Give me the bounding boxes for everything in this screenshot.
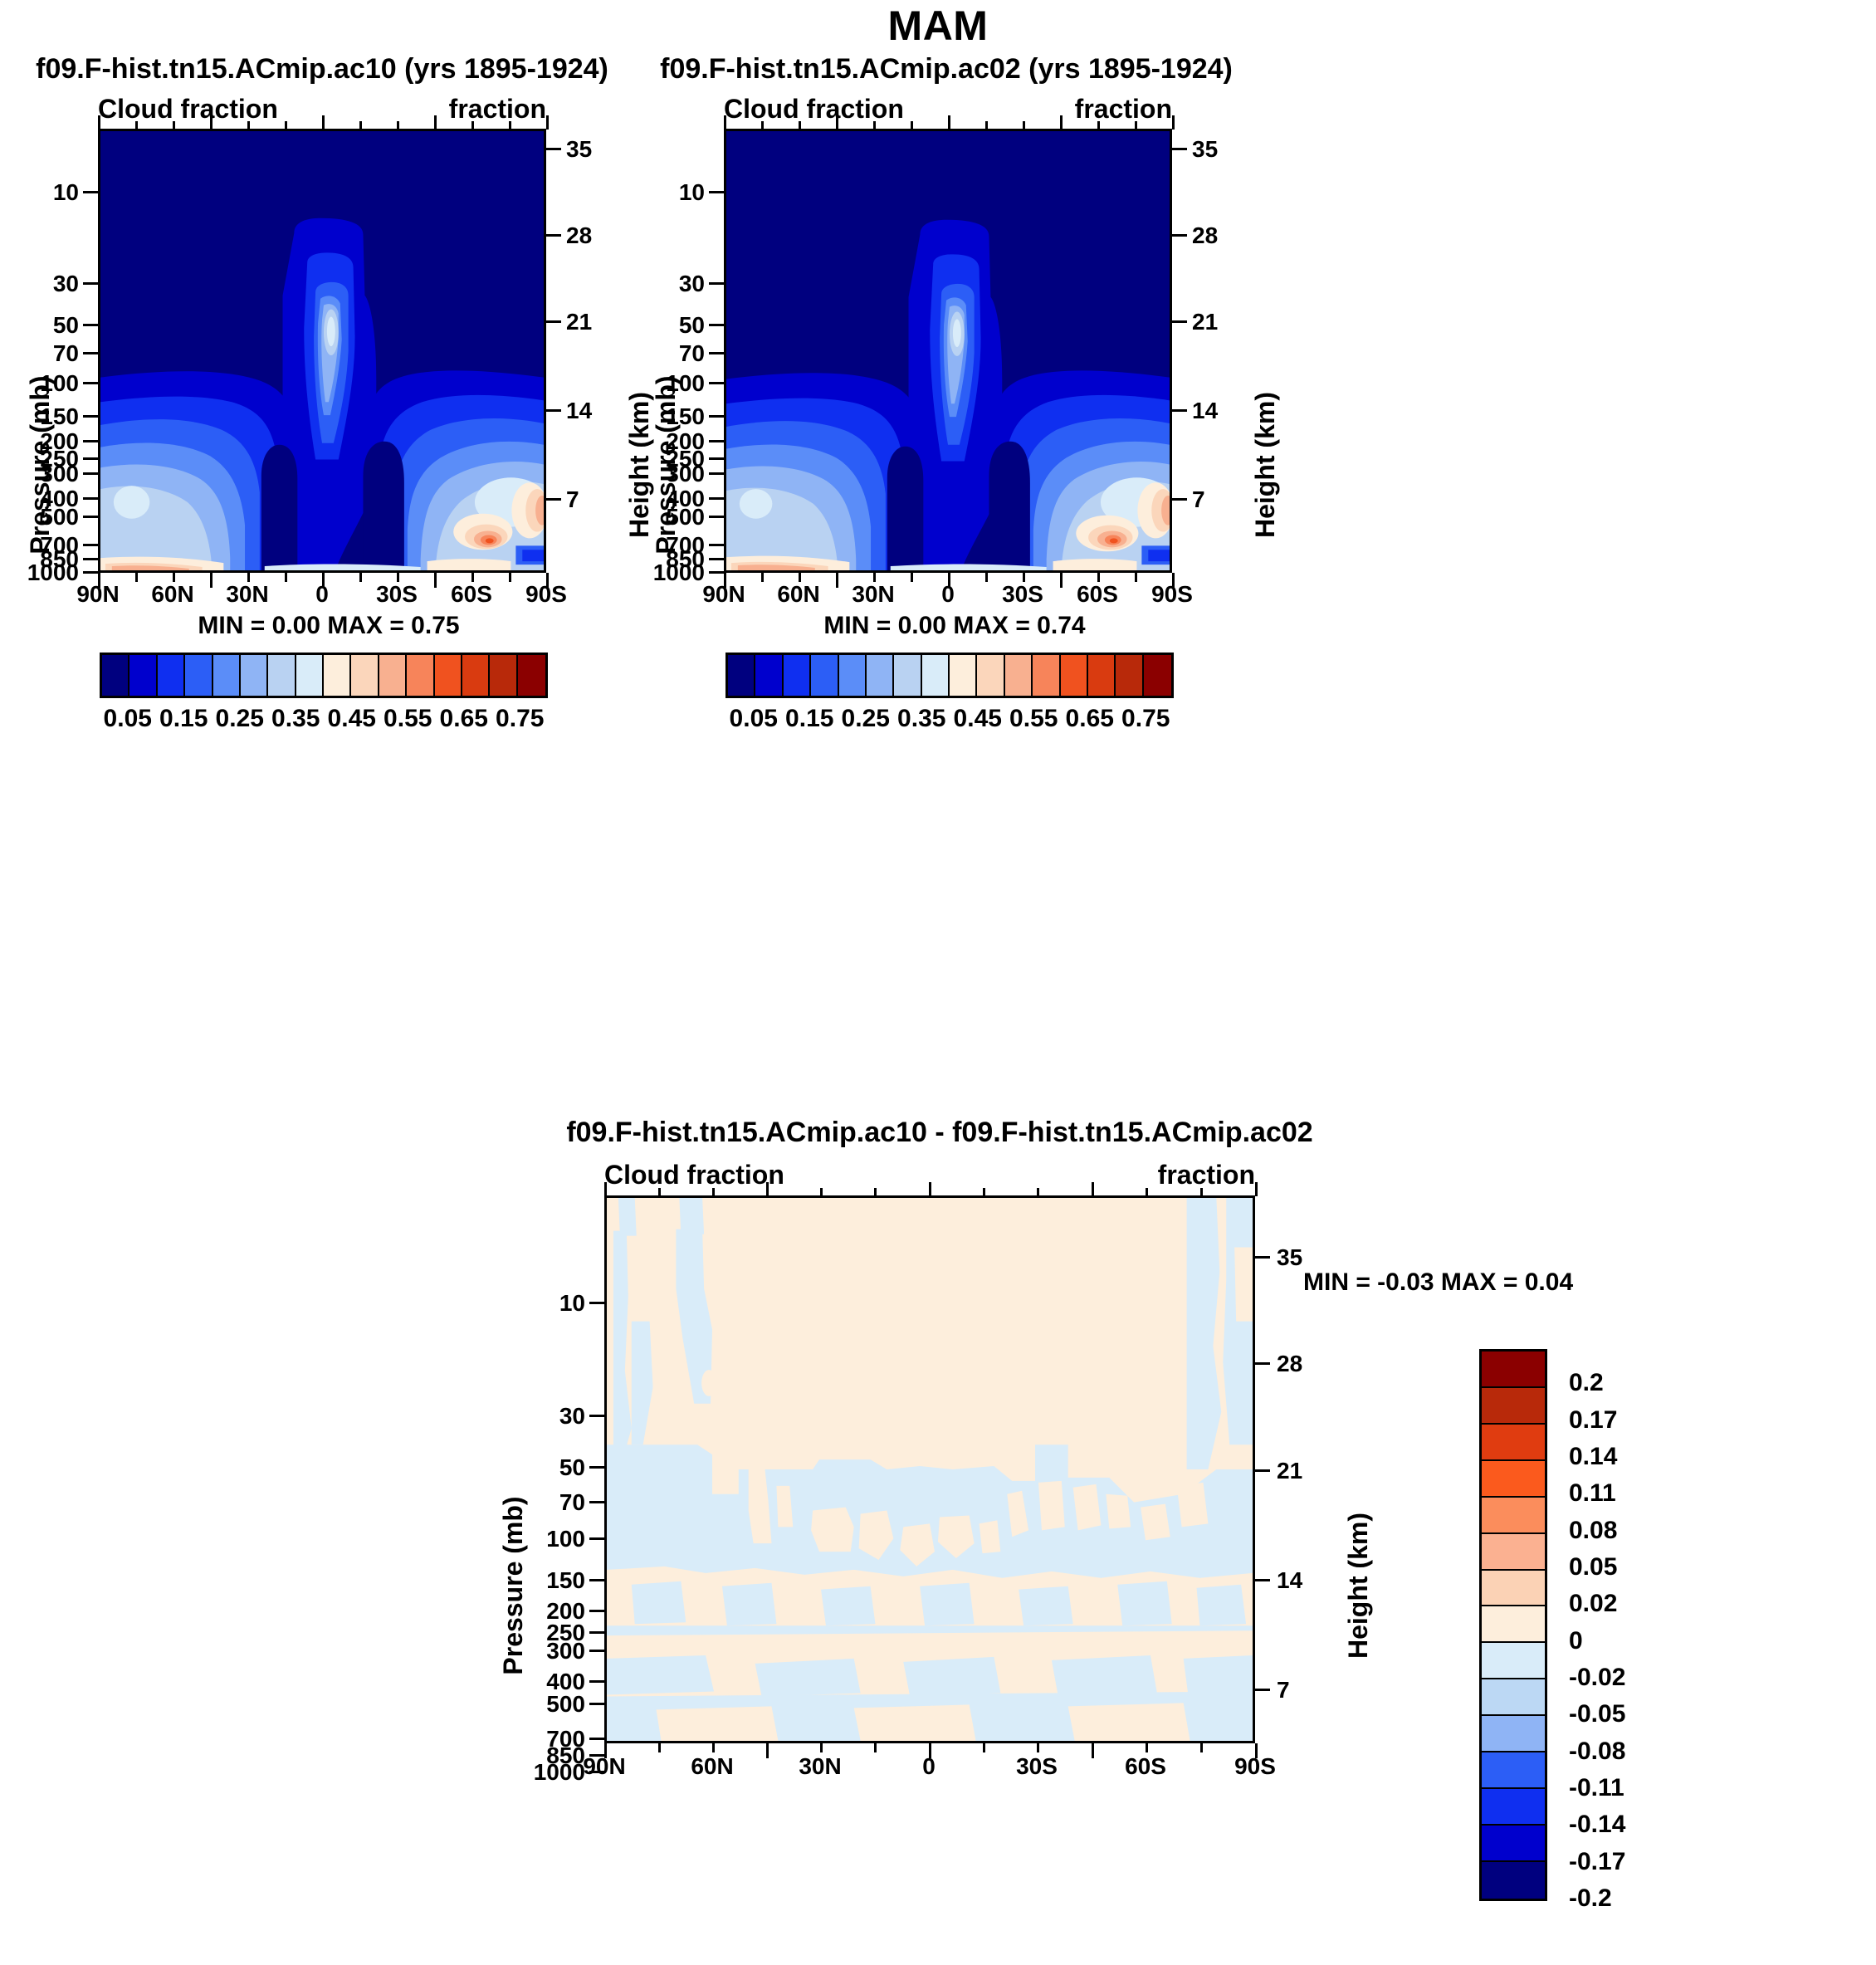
right-xtick-90N: 90N	[702, 581, 745, 608]
diff-contour-field	[607, 1198, 1253, 1741]
colorbar-tick-label: -0.02	[1569, 1664, 1625, 1692]
diff-ytick-100: 100	[546, 1526, 585, 1552]
left-ytick-1000: 1000	[27, 560, 79, 586]
left-panel-title: f09.F-hist.tn15.ACmip.ac10 (yrs 1895-192…	[36, 53, 608, 86]
right-xtick-30S: 30S	[1002, 581, 1043, 608]
colorbar-cell	[241, 655, 268, 696]
colorbar-cell	[129, 655, 157, 696]
left-ytick-30: 30	[53, 271, 79, 297]
colorbar-cell	[518, 655, 545, 696]
colorbar-tick-label: 0.25	[216, 705, 264, 733]
left-xtick-30N: 30N	[226, 581, 268, 608]
colorbar-tick-label: 0.65	[440, 705, 488, 733]
colorbar-tick-label: 0.35	[271, 705, 320, 733]
colorbar-cell	[1482, 1679, 1545, 1716]
left-ytick-50: 50	[53, 312, 79, 339]
colorbar-cell	[1482, 1461, 1545, 1498]
right-contour-field	[726, 131, 1170, 570]
left-y2tick-28: 28	[566, 222, 592, 249]
diff-minmax-text: MIN = -0.03 MAX = 0.04	[1303, 1268, 1573, 1297]
diff-panel-title: f09.F-hist.tn15.ACmip.ac10 - f09.F-hist.…	[566, 1117, 1312, 1149]
colorbar-cell	[462, 655, 490, 696]
colorbar-cell	[1144, 655, 1171, 696]
colorbar-tick-label: 0.75	[496, 705, 544, 733]
right-panel-title: f09.F-hist.tn15.ACmip.ac02 (yrs 1895-192…	[660, 53, 1233, 86]
colorbar-cell	[950, 655, 977, 696]
left-variable-label: Cloud fraction	[98, 94, 278, 125]
right-ytick-30: 30	[679, 271, 705, 297]
diff-y2tick-14: 14	[1277, 1567, 1302, 1594]
left-xtick-30S: 30S	[376, 581, 418, 608]
colorbar-tick-label: -0.11	[1569, 1774, 1624, 1802]
diff-xtick-90S: 90S	[1234, 1753, 1276, 1780]
colorbar-tick-label: 0.05	[730, 705, 778, 733]
colorbar-cell	[1482, 1606, 1545, 1643]
left-y2tick-14: 14	[566, 398, 592, 424]
left-xtick-0: 0	[315, 581, 329, 608]
colorbar-tick-label: -0.2	[1569, 1884, 1612, 1913]
colorbar-cell	[894, 655, 921, 696]
diff-ytick-500: 500	[546, 1691, 585, 1718]
page-title: MAM	[888, 2, 989, 50]
right-xtick-60S: 60S	[1077, 581, 1118, 608]
right-contour-plot	[724, 129, 1172, 573]
diff-ytick-30: 30	[559, 1403, 585, 1430]
left-minmax-text: MIN = 0.00 MAX = 0.75	[198, 612, 459, 640]
right-ytick-10: 10	[679, 179, 705, 206]
right-ytick-300: 300	[666, 461, 705, 487]
left-contour-field	[100, 131, 544, 570]
right-y2tick-21: 21	[1192, 309, 1218, 335]
colorbar-cell	[1482, 1716, 1545, 1752]
colorbar-cell	[1482, 1789, 1545, 1826]
colorbar-cell	[1482, 1643, 1545, 1679]
colorbar-cell	[407, 655, 434, 696]
colorbar-tick-label: 0.35	[897, 705, 945, 733]
colorbar-cell	[1482, 1571, 1545, 1607]
colorbar-tick-label: 0.14	[1569, 1443, 1617, 1471]
right-ytick-500: 500	[666, 504, 705, 530]
colorbar-cell	[839, 655, 867, 696]
diff-colorbar	[1479, 1349, 1547, 1901]
colorbar-tick-label: 0.2	[1569, 1369, 1604, 1397]
colorbar-tick-label: 0.45	[328, 705, 376, 733]
colorbar-tick-label: 0.55	[384, 705, 432, 733]
colorbar-cell	[1005, 655, 1033, 696]
colorbar-tick-label: 0.75	[1121, 705, 1170, 733]
diff-ytick-300: 300	[546, 1638, 585, 1664]
left-y2tick-35: 35	[566, 136, 592, 163]
right-minmax-text: MIN = 0.00 MAX = 0.74	[823, 612, 1085, 640]
colorbar-cell	[490, 655, 517, 696]
colorbar-cell	[1061, 655, 1088, 696]
colorbar-tick-label: 0.08	[1569, 1517, 1617, 1545]
colorbar-tick-label: -0.17	[1569, 1848, 1625, 1876]
colorbar-cell	[102, 655, 129, 696]
right-xtick-90S: 90S	[1151, 581, 1193, 608]
colorbar-cell	[185, 655, 213, 696]
colorbar-cell	[1482, 1534, 1545, 1571]
colorbar-cell	[728, 655, 755, 696]
colorbar-tick-label: 0.15	[159, 705, 208, 733]
right-ytick-150: 150	[666, 403, 705, 430]
right-colorbar	[725, 653, 1174, 698]
colorbar-cell	[296, 655, 324, 696]
colorbar-cell	[1482, 1388, 1545, 1425]
colorbar-tick-label: 0.15	[785, 705, 833, 733]
colorbar-cell	[867, 655, 894, 696]
colorbar-tick-label: -0.08	[1569, 1738, 1625, 1766]
colorbar-cell	[1482, 1862, 1545, 1899]
diff-variable-label: Cloud fraction	[604, 1160, 784, 1190]
colorbar-cell	[1482, 1352, 1545, 1388]
left-ytick-150: 150	[40, 403, 79, 430]
diff-ytick-1000: 1000	[534, 1759, 585, 1786]
left-xtick-60N: 60N	[151, 581, 193, 608]
colorbar-cell	[784, 655, 811, 696]
left-xtick-90N: 90N	[76, 581, 119, 608]
colorbar-cell	[1116, 655, 1143, 696]
colorbar-cell	[977, 655, 1004, 696]
colorbar-cell	[1482, 1425, 1545, 1461]
diff-y2tick-21: 21	[1277, 1458, 1302, 1484]
left-ytick-10: 10	[53, 179, 79, 206]
colorbar-tick-label: 0.17	[1569, 1406, 1617, 1435]
right-variable-label: Cloud fraction	[724, 94, 904, 125]
colorbar-cell	[755, 655, 783, 696]
diff-units-label: fraction	[1158, 1160, 1255, 1190]
colorbar-cell	[922, 655, 950, 696]
left-ytick-100: 100	[40, 370, 79, 397]
colorbar-cell	[213, 655, 241, 696]
figure-canvas: MAM f09.F-hist.tn15.ACmip.ac10 (yrs 1895…	[0, 0, 1876, 1965]
colorbar-cell	[435, 655, 462, 696]
left-units-label: fraction	[449, 94, 546, 125]
diff-y2tick-28: 28	[1277, 1351, 1302, 1377]
right-units-label: fraction	[1075, 94, 1172, 125]
colorbar-cell	[1482, 1826, 1545, 1862]
right-xtick-60N: 60N	[777, 581, 819, 608]
colorbar-tick-label: -0.14	[1569, 1811, 1625, 1839]
right-ytick-50: 50	[679, 312, 705, 339]
diff-xtick-30N: 30N	[799, 1753, 841, 1780]
diff-xtick-60S: 60S	[1125, 1753, 1166, 1780]
diff-xtick-0: 0	[922, 1753, 936, 1780]
right-ytick-70: 70	[679, 340, 705, 367]
diff-ytick-50: 50	[559, 1454, 585, 1481]
right-y2tick-7: 7	[1192, 486, 1205, 513]
colorbar-tick-label: 0.05	[1569, 1553, 1617, 1581]
right-ytick-1000: 1000	[653, 560, 705, 586]
left-xtick-60S: 60S	[451, 581, 492, 608]
colorbar-cell	[1033, 655, 1060, 696]
diff-y2tick-7: 7	[1277, 1677, 1290, 1703]
colorbar-tick-label: 0	[1569, 1627, 1583, 1655]
left-ytick-300: 300	[40, 461, 79, 487]
colorbar-tick-label: 0.05	[104, 705, 152, 733]
colorbar-cell	[811, 655, 838, 696]
colorbar-tick-label: 0.25	[842, 705, 890, 733]
diff-xtick-30S: 30S	[1016, 1753, 1058, 1780]
colorbar-cell	[324, 655, 351, 696]
diff-ytick-10: 10	[559, 1290, 585, 1317]
diff-ytick-70: 70	[559, 1489, 585, 1516]
left-contour-plot	[98, 129, 546, 573]
right-ytick-100: 100	[666, 370, 705, 397]
diff-contour-plot	[604, 1195, 1255, 1743]
diff-xtick-90N: 90N	[583, 1753, 625, 1780]
colorbar-cell	[1482, 1752, 1545, 1789]
colorbar-tick-label: 0.55	[1009, 705, 1058, 733]
diff-pressure-axis-title: Pressure (mb)	[498, 1496, 529, 1674]
right-xtick-0: 0	[941, 581, 955, 608]
diff-xtick-60N: 60N	[691, 1753, 733, 1780]
left-colorbar	[100, 653, 548, 698]
diff-y2tick-35: 35	[1277, 1244, 1302, 1271]
colorbar-tick-label: 0.65	[1066, 705, 1114, 733]
colorbar-tick-label: 0.45	[954, 705, 1002, 733]
diff-ytick-150: 150	[546, 1567, 585, 1594]
colorbar-cell	[158, 655, 185, 696]
left-ytick-70: 70	[53, 340, 79, 367]
colorbar-cell	[379, 655, 407, 696]
left-ytick-500: 500	[40, 504, 79, 530]
colorbar-tick-label: -0.05	[1569, 1700, 1625, 1728]
right-height-axis-title: Height (km)	[1250, 392, 1281, 538]
right-xtick-30N: 30N	[852, 581, 894, 608]
right-y2tick-14: 14	[1192, 398, 1218, 424]
colorbar-cell	[351, 655, 379, 696]
right-y2tick-35: 35	[1192, 136, 1218, 163]
colorbar-cell	[1088, 655, 1116, 696]
left-y2tick-21: 21	[566, 309, 592, 335]
colorbar-cell	[1482, 1498, 1545, 1534]
colorbar-tick-label: 0.02	[1569, 1590, 1617, 1618]
diff-height-axis-title: Height (km)	[1343, 1513, 1374, 1659]
colorbar-cell	[268, 655, 296, 696]
left-y2tick-7: 7	[566, 486, 579, 513]
right-y2tick-28: 28	[1192, 222, 1218, 249]
colorbar-tick-label: 0.11	[1569, 1479, 1616, 1508]
left-xtick-90S: 90S	[525, 581, 567, 608]
